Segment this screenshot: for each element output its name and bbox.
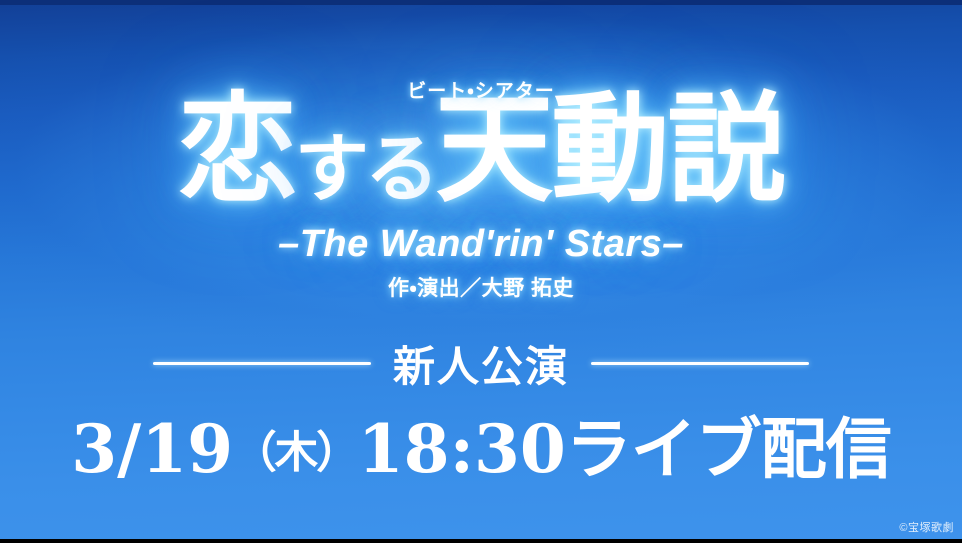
main-title: 恋する天動説 bbox=[0, 88, 962, 211]
staff-credit: 作・演出／大野 拓史 bbox=[0, 272, 962, 302]
copyright-notice: ©宝塚歌劇 bbox=[899, 519, 954, 535]
bottom-edge-band bbox=[0, 539, 962, 543]
poster-canvas: ビート・シアター 恋する天動説 –The Wand'rin' Stars– 作・… bbox=[0, 0, 962, 543]
english-subtitle: –The Wand'rin' Stars– bbox=[0, 223, 962, 266]
banner-label: 新人公演 bbox=[393, 333, 569, 394]
broadcast-date: 3/19 bbox=[71, 410, 233, 488]
broadcast-line: 3/19（木）18:30ライブ配信 bbox=[0, 396, 962, 492]
title-kana-suru: する bbox=[295, 124, 436, 212]
banner-row: 新人公演 bbox=[0, 333, 962, 394]
top-edge-band bbox=[0, 0, 962, 5]
rule-left bbox=[153, 362, 371, 365]
broadcast-time: 18:30 bbox=[358, 410, 566, 488]
tagline-text: ビート・シアター bbox=[0, 76, 962, 103]
broadcast-weekday: （木） bbox=[233, 428, 358, 479]
broadcast-label: ライブ配信 bbox=[566, 410, 891, 488]
rule-right bbox=[591, 362, 809, 365]
